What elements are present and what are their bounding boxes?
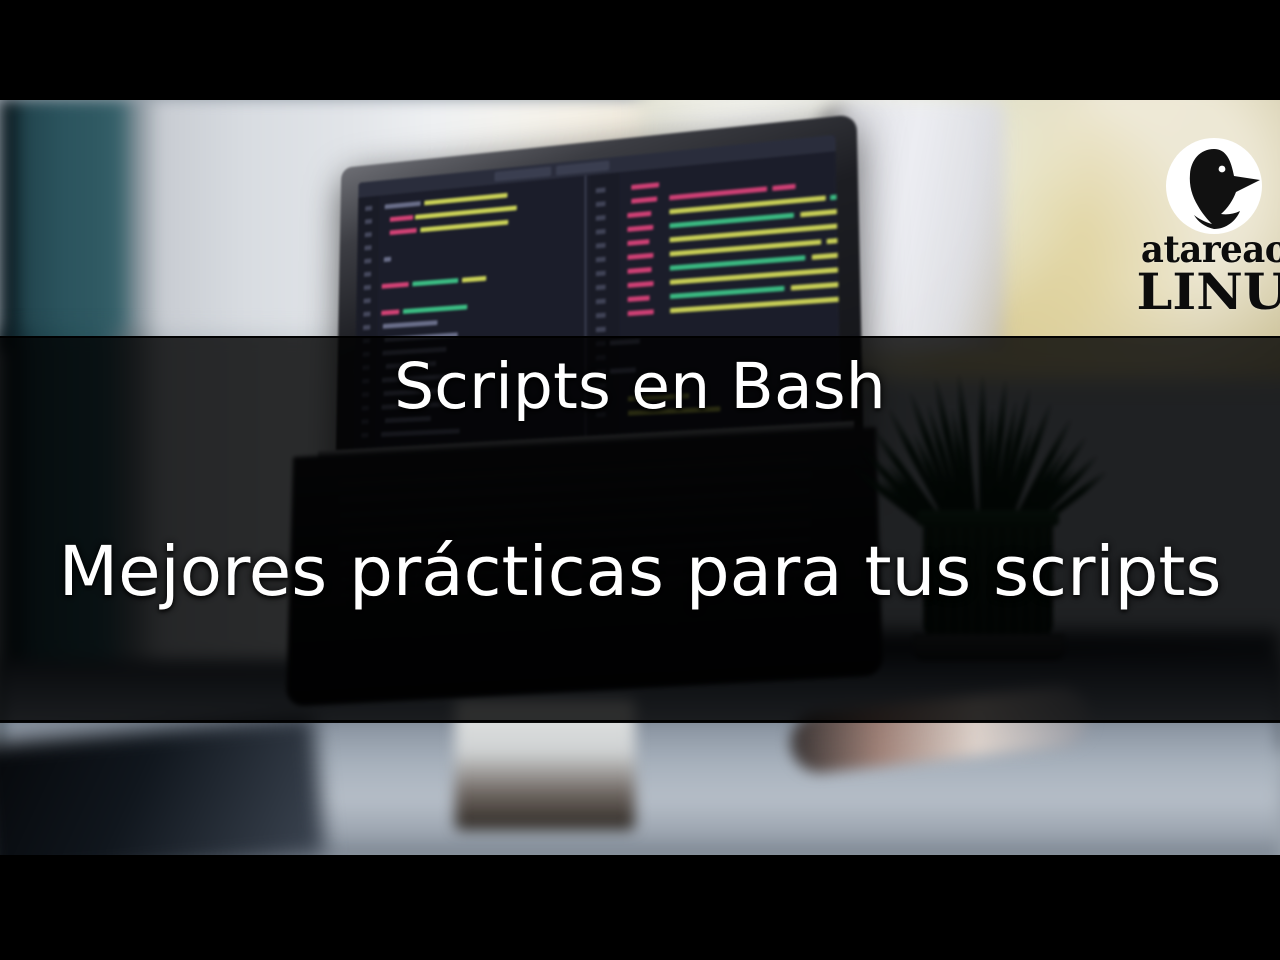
letterbox-bar-top — [0, 0, 1280, 100]
video-thumbnail: Scripts en Bash Mejores prácticas para t… — [0, 0, 1280, 960]
brand-logo-text: atareao LINUX — [1138, 232, 1280, 317]
letterbox-bar-bottom — [0, 855, 1280, 960]
band-bottom-edge — [0, 720, 1280, 723]
band-top-edge — [0, 336, 1280, 338]
brand-logo: atareao LINUX — [1138, 136, 1280, 336]
page-subtitle: Mejores prácticas para tus scripts — [0, 535, 1280, 611]
page-title: Scripts en Bash — [0, 352, 1280, 421]
brand-suffix: LINUX — [1137, 267, 1280, 317]
penguin-icon — [1164, 136, 1264, 236]
